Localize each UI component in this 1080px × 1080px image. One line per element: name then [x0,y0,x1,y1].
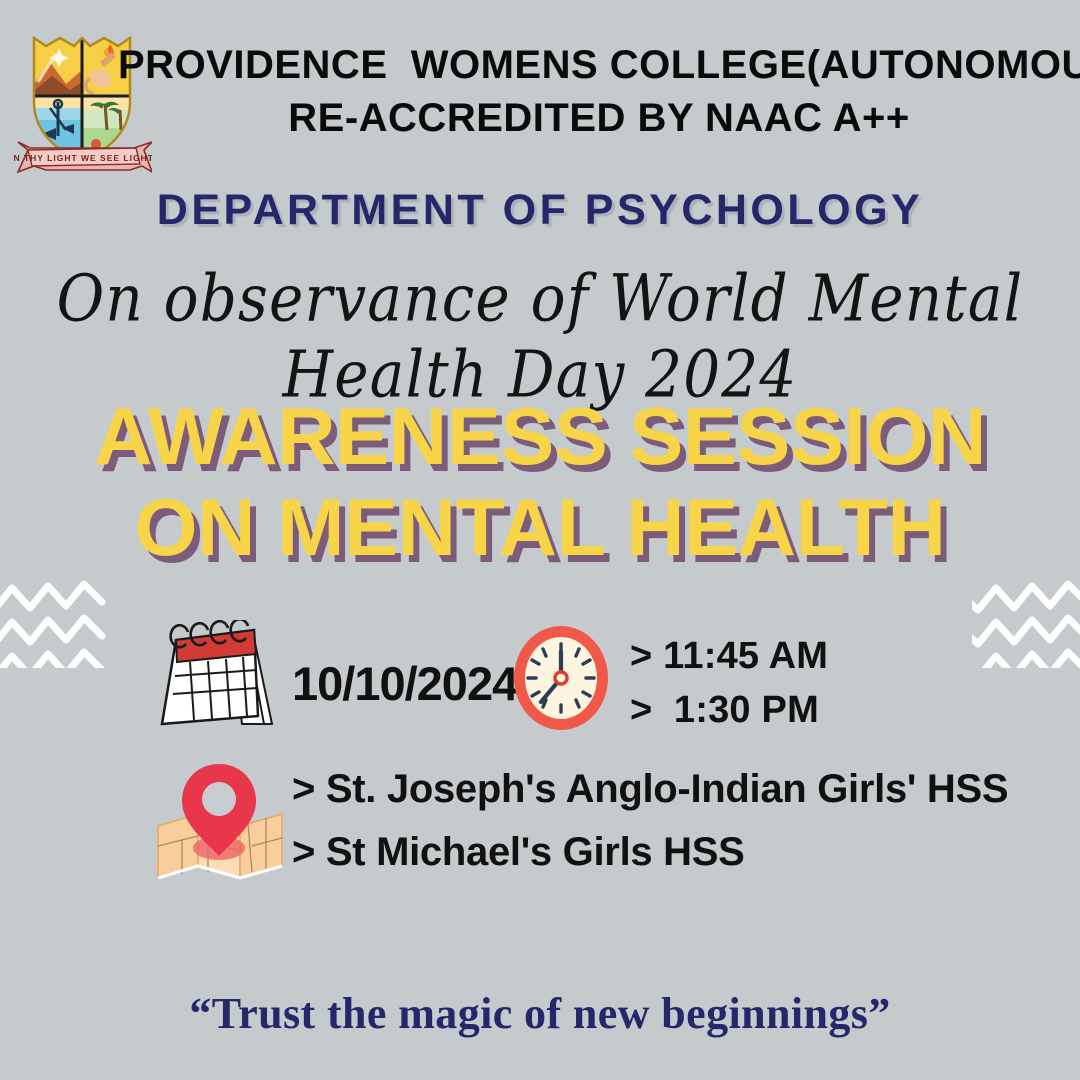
event-time-line-1: > 11:45 AM [630,630,828,684]
event-time-line-2: > 1:30 PM [630,684,828,738]
date-time-row: 10/10/2024 [0,612,1080,740]
department-heading: DEPARTMENT OF PSYCHOLOGY [0,186,1080,235]
map-pin-icon [148,754,298,880]
venue-row: > St. Joseph's Anglo-Indian Girls' HSS >… [0,748,1080,888]
svg-text:IN THY LIGHT WE SEE LIGHT: IN THY LIGHT WE SEE LIGHT [12,153,152,163]
event-title-line-2: ON MENTAL HEALTH [0,483,1080,574]
event-venues: > St. Joseph's Anglo-Indian Girls' HSS >… [292,758,1008,884]
event-venue-line-1: > St. Joseph's Anglo-Indian Girls' HSS [292,758,1008,821]
calendar-icon [150,620,282,728]
event-details-block: 10/10/2024 [0,612,1080,888]
college-name-line-1: PROVIDENCE WOMENS COLLEGE(AUTONOMOUS) [118,42,1080,89]
event-venue-line-2: > St Michael's Girls HSS [292,821,1008,884]
event-date: 10/10/2024 [292,656,517,711]
event-times: > 11:45 AM > 1:30 PM [630,630,828,738]
clock-icon [505,622,617,734]
poster-header: IN THY LIGHT WE SEE LIGHT PROVIDENCE WOM… [0,24,1080,174]
footer-quote: “Trust the magic of new beginnings” [0,988,1080,1039]
observance-subtitle: On observance of World Mental Health Day… [0,260,1080,412]
poster-canvas: IN THY LIGHT WE SEE LIGHT PROVIDENCE WOM… [0,0,1080,1080]
event-title-line-1: AWARENESS SESSION [0,392,1080,483]
college-name-block: PROVIDENCE WOMENS COLLEGE(AUTONOMOUS) RE… [118,42,1080,142]
event-title: AWARENESS SESSION ON MENTAL HEALTH [0,392,1080,573]
college-accreditation-line: RE-ACCREDITED BY NAAC A++ [118,95,1080,142]
